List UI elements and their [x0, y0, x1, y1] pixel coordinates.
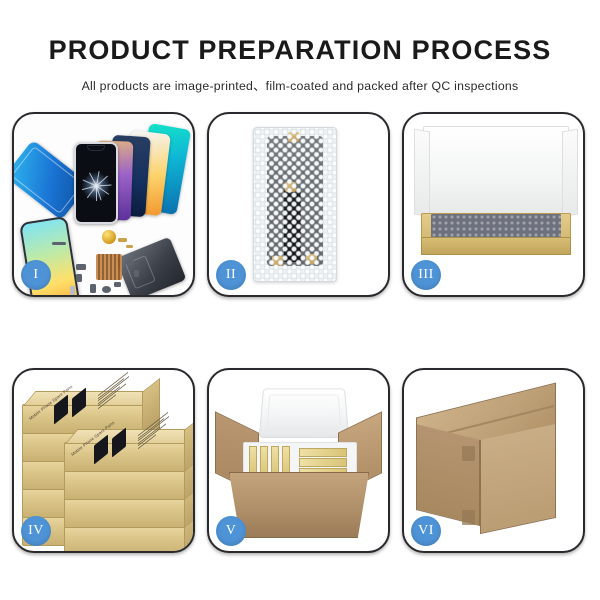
bubble-wrap-bag: [253, 127, 337, 282]
step-badge-6: VI: [411, 516, 441, 546]
panel-stacked-boxes: Mobile Phone Spare Parts Mobile Phone Sp…: [12, 368, 195, 553]
box-row-8: [64, 470, 186, 500]
carton-tape-bottom: [462, 510, 475, 525]
packed-box-5: [299, 448, 347, 457]
foam-insert: [431, 214, 561, 238]
packed-box-6: [299, 458, 347, 467]
step-badge-4: IV: [21, 516, 51, 546]
gold-component: [102, 230, 116, 244]
box-row-10: [64, 526, 186, 551]
carton-right-face: [480, 424, 556, 534]
page-title: PRODUCT PREPARATION PROCESS: [0, 37, 600, 64]
panel-carton-packing: V: [207, 368, 390, 553]
step-badge-1: I: [21, 260, 51, 290]
step-badge-2: II: [216, 260, 246, 290]
header: PRODUCT PREPARATION PROCESS All products…: [0, 0, 600, 94]
carton-tape-top: [462, 446, 475, 461]
white-box-lid: [423, 126, 569, 218]
page-subtitle: All products are image-printed、film-coat…: [0, 76, 600, 94]
process-step-grid: I II: [12, 112, 590, 544]
phone-screen-black-cracked: [74, 142, 118, 224]
bubble-texture: [254, 128, 336, 281]
foam-lid: [259, 388, 350, 438]
panel-bubble-wrap: II: [207, 112, 390, 297]
ic-chip-grid: [96, 254, 122, 280]
panel-open-kraft-box: III: [402, 112, 585, 297]
kraft-box-front-panel: [421, 237, 571, 255]
box-row-9: [64, 498, 186, 528]
shipping-carton-open: [229, 472, 369, 538]
panel-product-screens: I: [12, 112, 195, 297]
poster-root: PRODUCT PREPARATION PROCESS All products…: [0, 0, 600, 600]
step-badge-5: V: [216, 516, 246, 546]
step-badge-3: III: [411, 260, 441, 290]
panel-sealed-carton: VI: [402, 368, 585, 553]
crack-graphic: [82, 172, 110, 200]
